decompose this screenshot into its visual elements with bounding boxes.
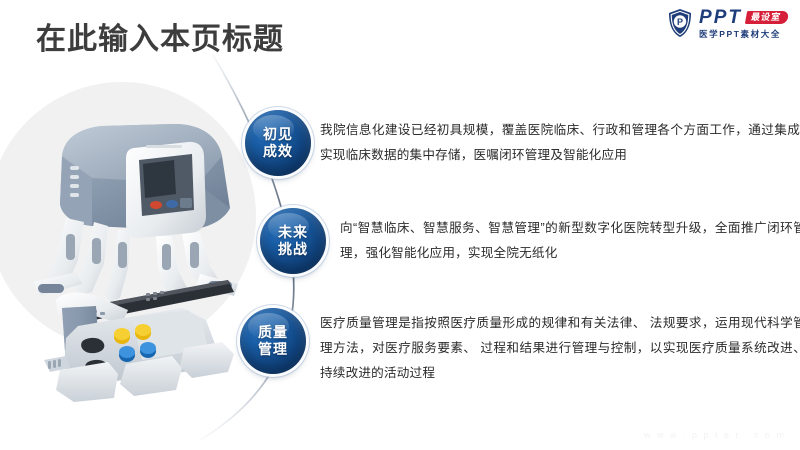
content-text-2: 向“智慧临床、智慧服务、智慧管理”的新型数字化医院转型升级，全面推广闭环管理，强… bbox=[340, 208, 800, 266]
shield-icon: P bbox=[667, 8, 693, 38]
badge-1-line-1: 初见 bbox=[263, 126, 293, 143]
badge-circle-1[interactable]: 初见 成效 bbox=[245, 110, 311, 176]
content-row-1: 初见 成效 我院信息化建设已经初具规模，覆盖医院临床、行政和管理各个方面工作，通… bbox=[245, 110, 800, 176]
content-row-3: 质量 管理 医疗质量管理是指按照医疗质量形成的规律和有关法律、 法规要求，运用现… bbox=[240, 308, 800, 386]
content-text-3: 医疗质量管理是指按照医疗质量形成的规律和有关法律、 法规要求，运用现代科学管理方… bbox=[320, 308, 800, 386]
badge-2-line-1: 未来 bbox=[278, 224, 308, 241]
content-text-1: 我院信息化建设已经初具规模，覆盖医院临床、行政和管理各个方面工作，通过集成实现临… bbox=[320, 110, 800, 168]
surgical-robot-illustration bbox=[22, 112, 254, 402]
svg-text:P: P bbox=[677, 17, 683, 27]
brand-logo: P PPT 最设室 医学PPT素材大全 bbox=[667, 8, 788, 39]
logo-subtitle: 医学PPT素材大全 bbox=[699, 30, 788, 39]
watermark: w w w . p p t e r . c o m bbox=[644, 430, 786, 440]
slide-root: 在此输入本页标题 P PPT 最设室 医学PPT素材大全 初见 成效 我院信息化… bbox=[0, 0, 800, 450]
logo-primary-row: PPT 最设室 bbox=[699, 8, 788, 27]
badge-circle-2[interactable]: 未来 挑战 bbox=[260, 208, 326, 274]
logo-brand-text: PPT bbox=[699, 8, 742, 27]
badge-3-line-2: 管理 bbox=[258, 341, 288, 358]
content-row-2: 未来 挑战 向“智慧临床、智慧服务、智慧管理”的新型数字化医院转型升级，全面推广… bbox=[260, 208, 800, 274]
badge-circle-3[interactable]: 质量 管理 bbox=[240, 308, 306, 374]
logo-badge: 最设室 bbox=[745, 11, 789, 24]
page-title: 在此输入本页标题 bbox=[36, 20, 284, 60]
logo-text-block: PPT 最设室 医学PPT素材大全 bbox=[699, 8, 788, 39]
badge-3-line-1: 质量 bbox=[258, 324, 288, 341]
badge-2-line-2: 挑战 bbox=[278, 241, 308, 258]
badge-1-line-2: 成效 bbox=[263, 143, 293, 160]
